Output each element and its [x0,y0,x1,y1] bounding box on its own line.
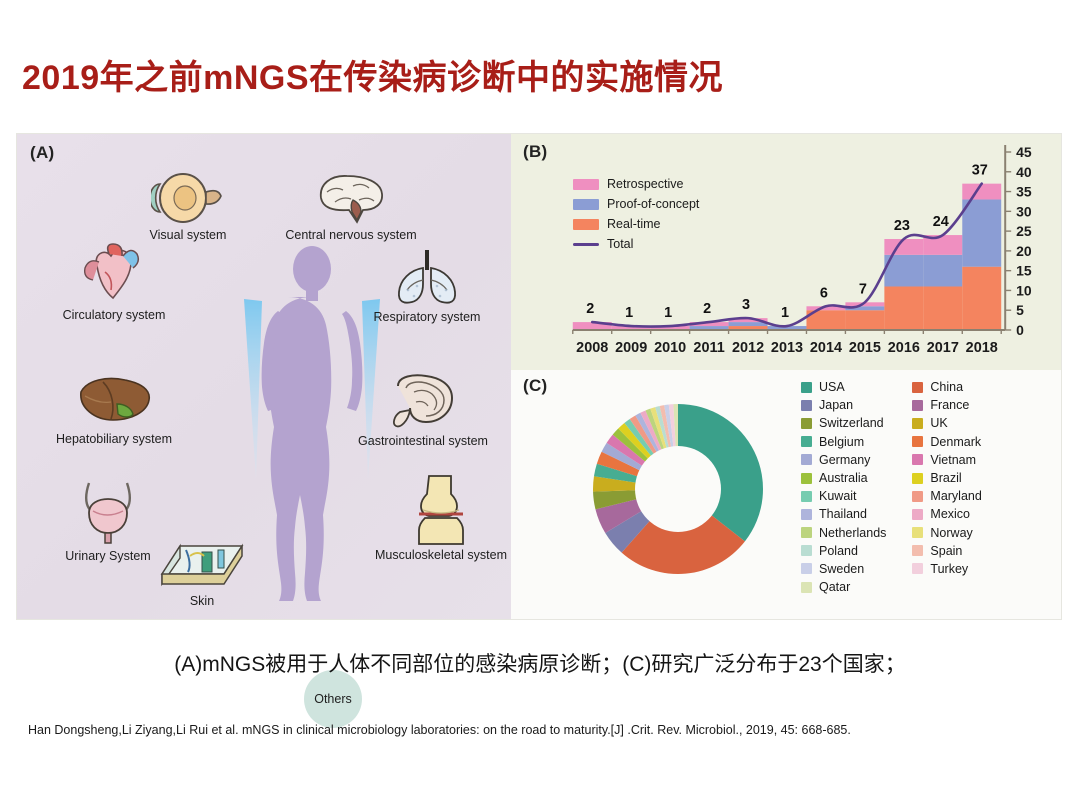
data-label: 1 [781,305,789,321]
country-legend-item: USA [801,378,886,396]
country-legend-swatch [912,527,923,538]
joint-icon [413,474,469,546]
y-tick-label: 35 [1016,184,1032,200]
intestine-icon [386,372,460,432]
country-legend-item: Germany [801,451,886,469]
country-legend-item: Brazil [912,469,981,487]
x-tick-label: 2012 [732,340,764,356]
country-legend-swatch [912,454,923,465]
x-tick-label: 2015 [849,340,881,356]
y-tick-label: 25 [1016,223,1032,239]
country-legend-item: Turkey [912,560,981,578]
others-bubble: Others [304,670,362,728]
country-legend-swatch [801,400,812,411]
country-legend-label: Japan [819,398,853,412]
country-legend-label: Spain [930,544,962,558]
bar-segment [845,310,884,330]
country-legend-label: Thailand [819,507,867,521]
data-label: 1 [664,305,672,321]
country-legend-swatch [912,545,923,556]
figure-container: (A) [16,133,1062,620]
panel-c-donut-chart [573,384,783,594]
liver-icon [73,374,155,430]
organ-hepatobiliary-system: Hepatobiliary system [23,374,205,447]
country-legend-swatch [801,545,812,556]
country-legend-swatch [801,418,812,429]
lungs-icon [392,246,462,308]
country-legend: USAJapanSwitzerlandBelgiumGermanyAustral… [801,378,982,596]
country-legend-swatch [801,509,812,520]
data-label: 23 [894,218,910,234]
country-legend-item: Thailand [801,505,886,523]
data-label: 7 [859,281,867,297]
country-legend-label: Switzerland [819,416,884,430]
data-label: 24 [933,214,949,230]
y-tick-label: 5 [1016,302,1024,318]
country-legend-item: Netherlands [801,524,886,542]
country-legend-swatch [801,473,812,484]
country-legend-label: Brazil [930,471,961,485]
citation-text: Han Dongsheng,Li Ziyang,Li Rui et al. mN… [28,723,1058,737]
bar-segment [923,286,962,330]
country-legend-swatch [912,382,923,393]
country-legend-swatch [912,491,923,502]
country-legend-item: Spain [912,542,981,560]
country-legend-swatch [801,454,812,465]
country-legend-swatch [912,563,923,574]
organ-label: Respiratory system [347,311,507,325]
country-legend-item: Qatar [801,578,886,596]
country-legend-label: Australia [819,471,868,485]
organ-circulatory-system: Circulatory system [35,242,193,323]
x-tick-label: 2013 [771,340,803,356]
country-legend-item: China [912,378,981,396]
country-legend-item: France [912,396,981,414]
bar-segment [729,322,768,326]
country-legend-swatch [801,582,812,593]
panel-b-stacked-bar-chart: 21123167232437 2008200920102011201220132… [511,134,1061,370]
country-legend-label: Norway [930,526,972,540]
country-legend-item: Belgium [801,433,886,451]
country-legend-swatch [801,527,812,538]
y-tick-label: 15 [1016,263,1032,279]
bar-segment [962,199,1001,266]
y-axis-tick-labels: 051015202530354045 [1016,144,1032,338]
country-legend-label: Belgium [819,435,864,449]
country-legend-label: USA [819,380,845,394]
y-tick-label: 20 [1016,243,1032,259]
panel-b: (B) Retrospective Proof-of-concept Real-… [511,134,1061,370]
x-tick-label: 2008 [576,340,608,356]
country-legend-column-left: USAJapanSwitzerlandBelgiumGermanyAustral… [801,378,886,596]
country-legend-item: Vietnam [912,451,981,469]
country-legend-column-right: ChinaFranceUKDenmarkVietnamBrazilMarylan… [912,378,981,596]
heart-icon [79,242,149,306]
country-legend-item: Sweden [801,560,886,578]
country-legend-item: Japan [801,396,886,414]
country-legend-label: Poland [819,544,858,558]
organ-central-nervous-system: Central nervous system [255,170,447,243]
panel-a-tag: (A) [30,143,55,163]
panel-c-tag: (C) [523,376,548,396]
country-legend-label: Kuwait [819,489,857,503]
eye-icon [151,170,225,226]
organ-gastrointestinal-system: Gastrointestinal system [333,372,513,449]
x-tick-label: 2009 [615,340,647,356]
country-legend-swatch [912,473,923,484]
y-tick-label: 10 [1016,282,1032,298]
country-legend-swatch [912,418,923,429]
data-label: 6 [820,285,828,301]
x-tick-label: 2014 [810,340,842,356]
country-legend-item: Switzerland [801,414,886,432]
slide-root: 2019年之前mNGS在传染病诊断中的实施情况 (A) [0,0,1080,810]
data-label: 2 [703,301,711,317]
data-label: 37 [972,163,988,179]
donut-chart-wrap [573,384,783,594]
others-label: Others [314,692,352,706]
country-legend-swatch [912,509,923,520]
bar-segment [962,184,1001,200]
organ-label: Musculoskeletal system [353,549,529,563]
panel-c: (C) USAJapanSwitzerlandBelgiumGermanyAus… [511,370,1061,619]
country-legend-label: Qatar [819,580,850,594]
x-tick-label: 2010 [654,340,686,356]
organ-label: Central nervous system [255,229,447,243]
country-legend-item: Kuwait [801,487,886,505]
country-legend-item: Poland [801,542,886,560]
y-tick-label: 30 [1016,203,1032,219]
country-legend-item: UK [912,414,981,432]
organ-respiratory-system: Respiratory system [347,246,507,325]
country-legend-label: Turkey [930,562,968,576]
y-tick-label: 45 [1016,144,1032,160]
country-legend-item: Australia [801,469,886,487]
figure-caption: (A)mNGS被用于人体不同部位的感染病原诊断；(C)研究广泛分布于23个国家； [0,648,1080,678]
organ-skin: Skin [137,534,267,609]
skin-tissue-icon [156,534,248,592]
country-legend-swatch [801,436,812,447]
x-tick-label: 2018 [966,340,998,356]
country-legend-label: Maryland [930,489,981,503]
bladder-icon [75,479,141,547]
country-legend-label: France [930,398,969,412]
organ-visual-system: Visual system [113,170,263,243]
organ-musculoskeletal-system: Musculoskeletal system [353,474,529,563]
right-column: (B) Retrospective Proof-of-concept Real-… [511,134,1061,619]
country-legend-swatch [801,563,812,574]
country-legend-label: Netherlands [819,526,886,540]
country-legend-item: Denmark [912,433,981,451]
organ-label: Skin [137,595,267,609]
x-axis-tick-labels: 2008200920102011201220132014201520162017… [576,340,998,356]
country-legend-label: China [930,380,963,394]
data-label: 3 [742,297,750,313]
organ-label: Hepatobiliary system [23,433,205,447]
country-legend-label: UK [930,416,947,430]
country-legend-item: Maryland [912,487,981,505]
country-legend-label: Mexico [930,507,970,521]
organ-label: Visual system [113,229,263,243]
country-legend-item: Norway [912,524,981,542]
country-legend-swatch [801,491,812,502]
y-tick-label: 0 [1016,322,1024,338]
country-legend-label: Denmark [930,435,981,449]
country-legend-label: Germany [819,453,870,467]
donut-hole [635,446,721,532]
country-legend-swatch [912,400,923,411]
brain-icon [313,170,389,226]
country-legend-item: Mexico [912,505,981,523]
organ-label: Circulatory system [35,309,193,323]
page-title: 2019年之前mNGS在传染病诊断中的实施情况 [22,50,723,99]
x-tick-label: 2017 [927,340,959,356]
bar-segment [962,267,1001,330]
x-tick-label: 2011 [693,340,724,356]
country-legend-swatch [801,382,812,393]
bar-segment [923,255,962,287]
bar-segment [884,239,923,255]
organ-label: Gastrointestinal system [333,435,513,449]
data-label: 1 [625,305,633,321]
country-legend-swatch [912,436,923,447]
country-legend-label: Sweden [819,562,864,576]
x-tick-label: 2016 [888,340,920,356]
y-tick-label: 40 [1016,164,1032,180]
data-label: 2 [586,301,594,317]
bar-segment [884,286,923,330]
country-legend-label: Vietnam [930,453,976,467]
panel-a: (A) [17,134,511,619]
